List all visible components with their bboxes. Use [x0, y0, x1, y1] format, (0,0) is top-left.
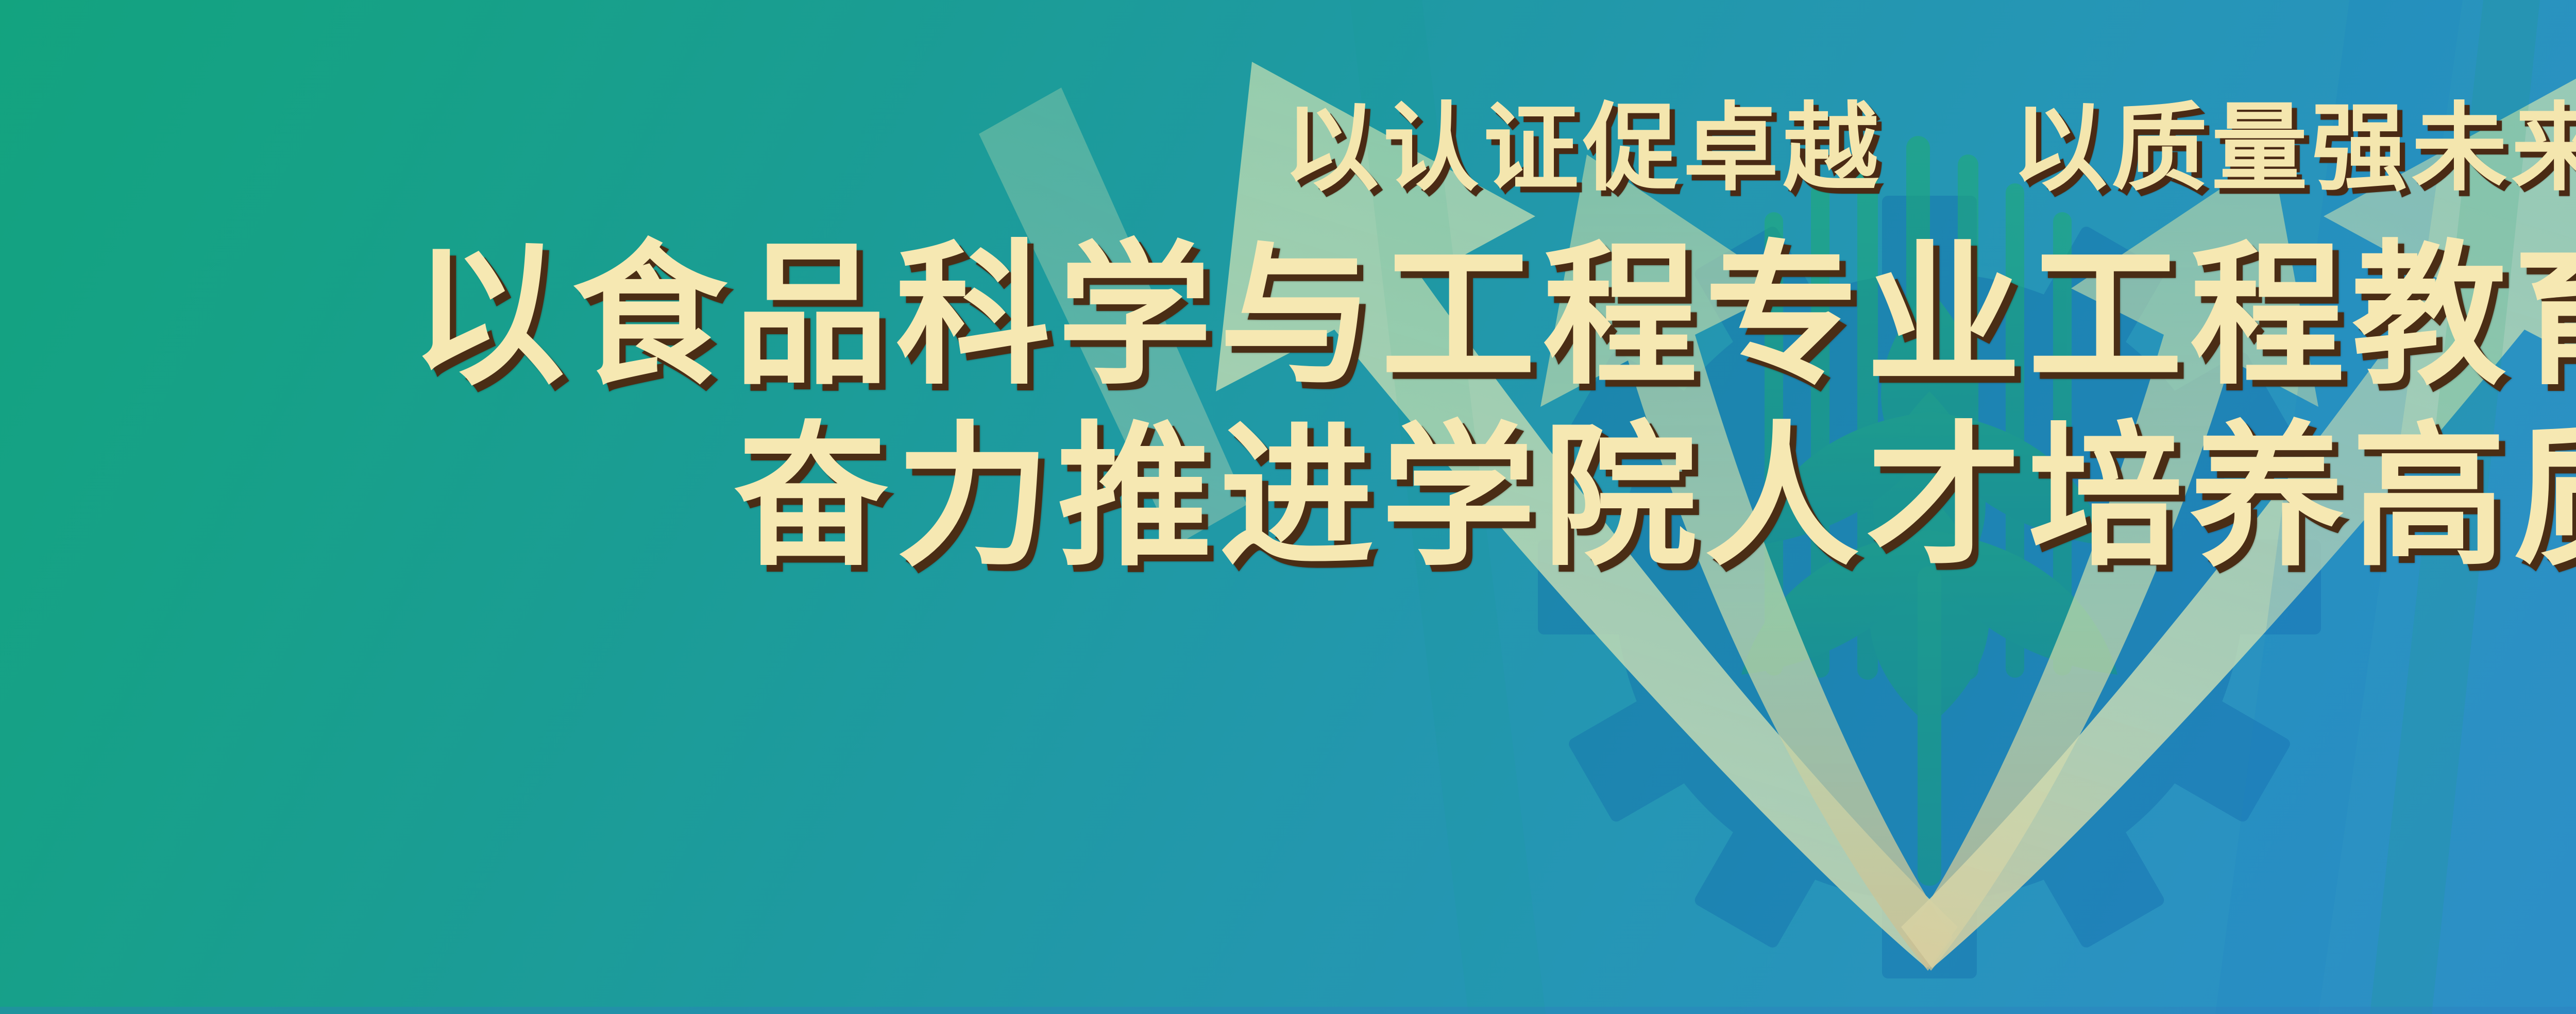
tagline: 以认证促卓越 以质量强未来	[1283, 101, 2576, 197]
tagline-right: 以质量强未来	[2012, 101, 2576, 197]
banner-text-stack: 以认证促卓越 以质量强未来 以食品科学与工程专业工程教育认证为契机 奋力推进学院…	[0, 0, 2576, 1014]
headline-line-1: 以食品科学与工程专业工程教育认证为契机	[411, 237, 2576, 398]
promotional-banner: 以认证促卓越 以质量强未来 以食品科学与工程专业工程教育认证为契机 奋力推进学院…	[0, 0, 2576, 1014]
headline-line-2: 奋力推进学院人才培养高质量发展	[734, 418, 2576, 579]
tagline-left: 以认证促卓越	[1283, 101, 1883, 197]
